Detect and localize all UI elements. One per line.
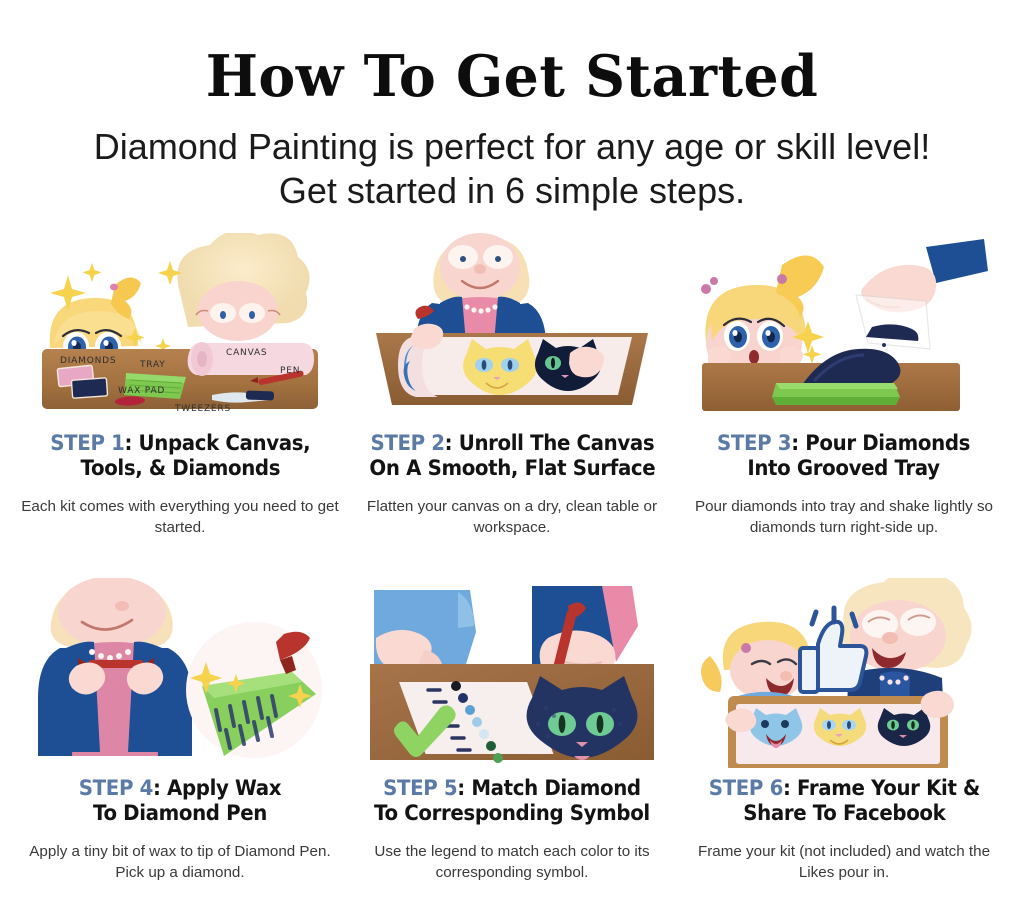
step-description-3: Pour diamonds into tray and shake lightl… bbox=[685, 496, 1003, 539]
step-title-3: STEP 3: Pour Diamonds Into Grooved Tray bbox=[717, 431, 970, 482]
step-4-art-svg bbox=[30, 578, 330, 768]
framed-artwork bbox=[728, 696, 948, 768]
step-4-illustration bbox=[30, 578, 330, 768]
step-description-2: Flatten your canvas on a dry, clean tabl… bbox=[353, 496, 671, 539]
step-3-illustration bbox=[694, 233, 994, 423]
step-title-line1-4: : Apply Wax bbox=[153, 776, 281, 801]
infographic-page: How To Get Started Diamond Painting is p… bbox=[0, 0, 1024, 922]
page-title: How To Get Started bbox=[15, 48, 1008, 105]
label-tray: TRAY bbox=[139, 360, 166, 370]
step-title-line2-3: Into Grooved Tray bbox=[748, 456, 940, 481]
step-title-line1-2: : Unroll The Canvas bbox=[444, 431, 654, 456]
step-description-6: Frame your kit (not included) and watch … bbox=[685, 841, 1003, 884]
step-card-5: STEP 5: Match Diamond To Corresponding S… bbox=[346, 578, 678, 922]
step-title-line2-6: Share To Facebook bbox=[743, 801, 945, 826]
step-card-3: STEP 3: Pour Diamonds Into Grooved Tray … bbox=[678, 233, 1010, 578]
step-1-art-svg: DIAMONDS TRAY WAX PAD TWEEZERS CANVAS PE… bbox=[30, 233, 330, 423]
step-card-4: STEP 4: Apply Wax To Diamond Pen Apply a… bbox=[14, 578, 346, 922]
step-title-line1-6: : Frame Your Kit & bbox=[783, 776, 980, 801]
step-title-line2-5: To Corresponding Symbol bbox=[374, 801, 650, 826]
step-title-line1-1: : Unpack Canvas, bbox=[124, 431, 310, 456]
header: How To Get Started Diamond Painting is p… bbox=[0, 0, 1024, 213]
step-number-6: STEP 6 bbox=[708, 776, 782, 801]
step-3-art-svg bbox=[694, 233, 994, 423]
step-number-1: STEP 1 bbox=[50, 431, 124, 456]
steps-grid: DIAMONDS TRAY WAX PAD TWEEZERS CANVAS PE… bbox=[0, 233, 1024, 922]
step-5-illustration bbox=[362, 578, 662, 768]
step-title-6: STEP 6: Frame Your Kit & Share To Facebo… bbox=[708, 776, 979, 827]
step-title-line1-3: : Pour Diamonds bbox=[792, 431, 971, 456]
step-number-3: STEP 3 bbox=[717, 431, 791, 456]
step-title-1: STEP 1: Unpack Canvas, Tools, & Diamonds bbox=[50, 431, 310, 482]
diamond-bag bbox=[856, 295, 930, 349]
label-tweezers: TWEEZERS bbox=[174, 404, 231, 414]
step-title-2: STEP 2: Unroll The Canvas On A Smooth, F… bbox=[369, 431, 655, 482]
step-title-4: STEP 4: Apply Wax To Diamond Pen bbox=[79, 776, 281, 827]
step-number-2: STEP 2 bbox=[370, 431, 444, 456]
label-pen: PEN bbox=[280, 366, 300, 376]
child-character bbox=[374, 590, 476, 676]
step-5-art-svg bbox=[362, 578, 662, 768]
step-title-line2-1: Tools, & Diamonds bbox=[80, 456, 280, 481]
step-title-line2-2: On A Smooth, Flat Surface bbox=[369, 456, 655, 481]
step-6-art-svg bbox=[694, 578, 994, 768]
step-2-illustration bbox=[362, 233, 662, 423]
step-6-illustration bbox=[694, 578, 994, 768]
step-card-2: STEP 2: Unroll The Canvas On A Smooth, F… bbox=[346, 233, 678, 578]
step-description-1: Each kit comes with everything you need … bbox=[21, 496, 339, 539]
page-subtitle: Diamond Painting is perfect for any age … bbox=[0, 125, 1024, 213]
step-description-4: Apply a tiny bit of wax to tip of Diamon… bbox=[21, 841, 339, 884]
grooved-tray bbox=[772, 383, 900, 405]
step-number-5: STEP 5 bbox=[383, 776, 457, 801]
step-number-4: STEP 4 bbox=[79, 776, 153, 801]
label-canvas: CANVAS bbox=[226, 348, 267, 358]
zoom-inset bbox=[186, 622, 322, 758]
step-description-5: Use the legend to match each color to it… bbox=[353, 841, 671, 884]
boy-character bbox=[177, 233, 309, 341]
step-card-6: STEP 6: Frame Your Kit & Share To Facebo… bbox=[678, 578, 1010, 922]
step-2-art-svg bbox=[362, 233, 662, 423]
step-title-5: STEP 5: Match Diamond To Corresponding S… bbox=[374, 776, 650, 827]
label-diamonds: DIAMONDS bbox=[60, 356, 116, 366]
label-wax-pad: WAX PAD bbox=[118, 386, 165, 396]
step-card-1: DIAMONDS TRAY WAX PAD TWEEZERS CANVAS PE… bbox=[14, 233, 346, 578]
facebook-thumbs-up-icon bbox=[800, 608, 866, 692]
step-1-illustration: DIAMONDS TRAY WAX PAD TWEEZERS CANVAS PE… bbox=[30, 233, 330, 423]
step-title-line1-5: : Match Diamond bbox=[457, 776, 640, 801]
step-title-line2-4: To Diamond Pen bbox=[93, 801, 267, 826]
